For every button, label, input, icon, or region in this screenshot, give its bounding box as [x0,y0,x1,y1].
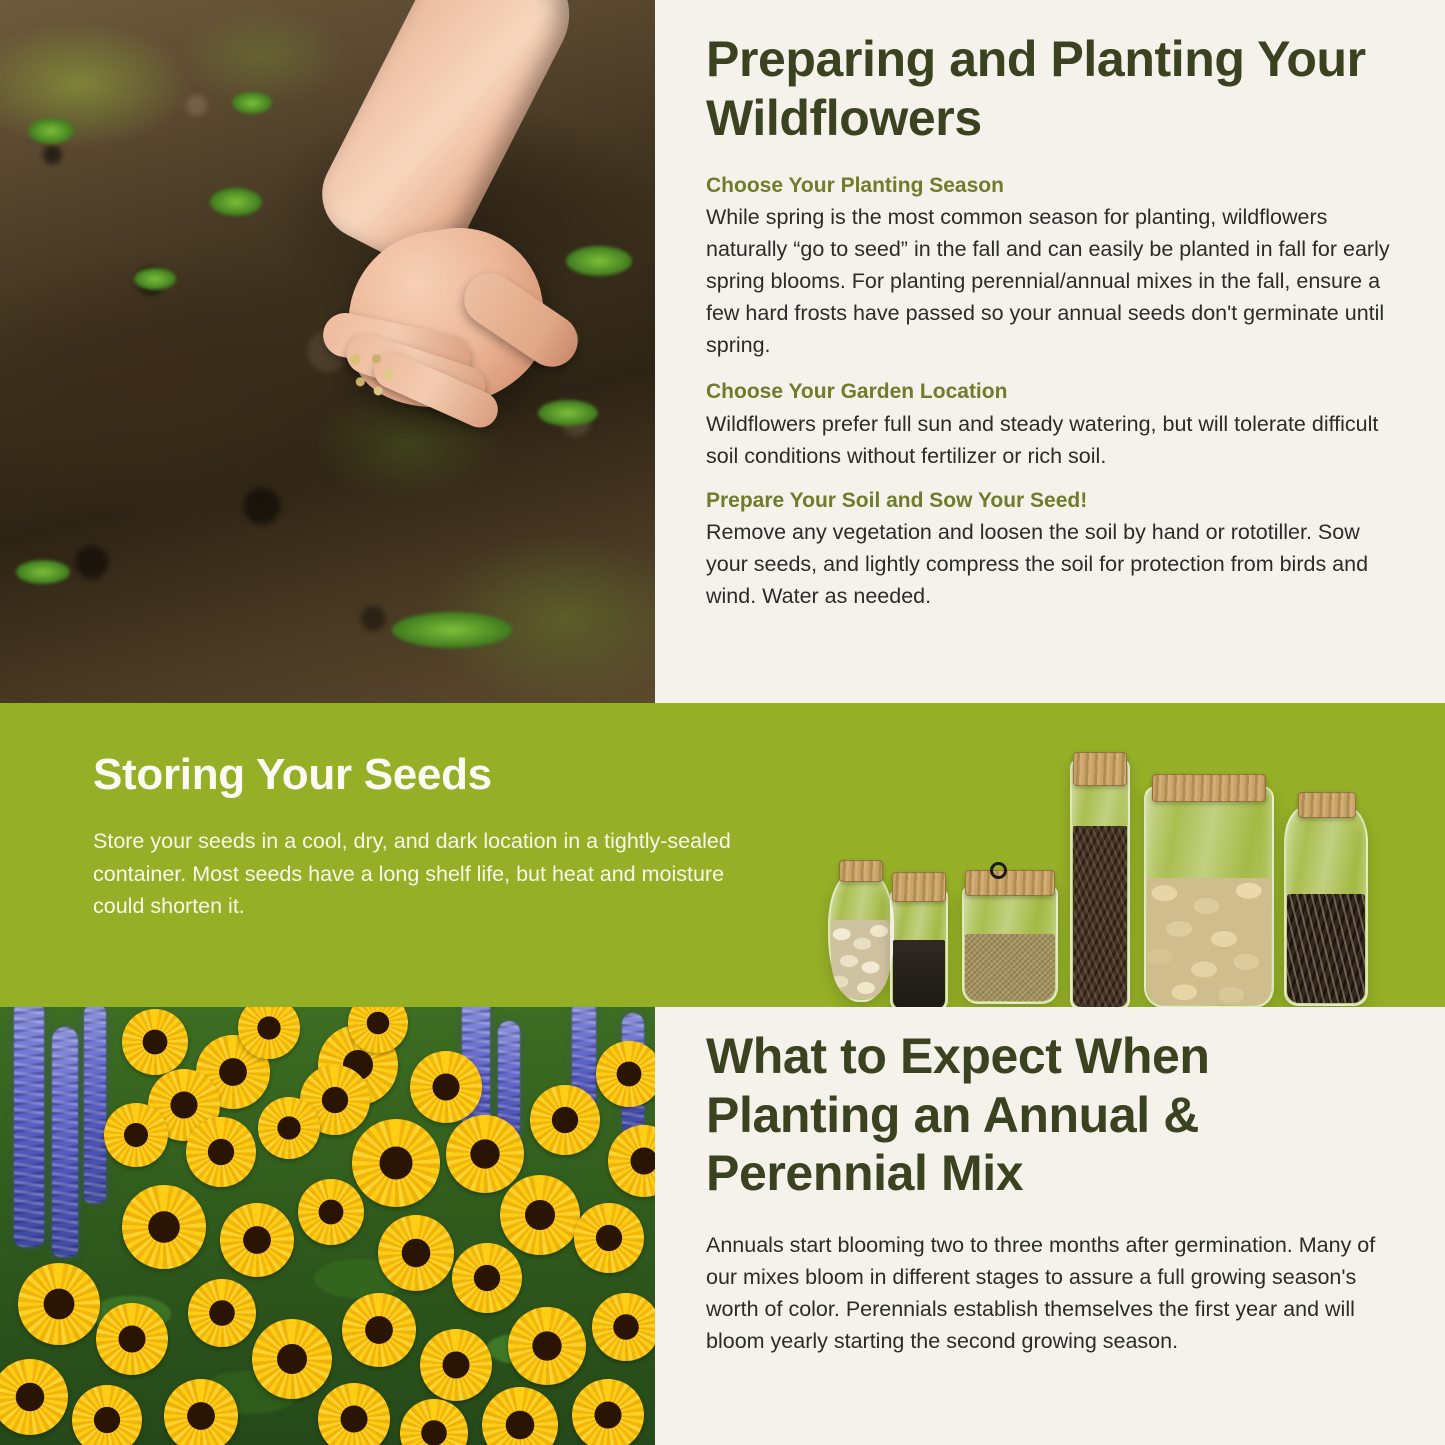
bloom-icon [508,1307,586,1385]
bloom-icon [188,1279,256,1347]
salvia-spike [14,1007,44,1247]
bloom-icon [318,1383,390,1445]
bloom-icon [164,1379,238,1445]
paragraph-garden-location: Wildflowers prefer full sun and steady w… [706,408,1391,472]
salvia-spike [84,1007,106,1203]
sprout-icon [28,118,74,144]
what-to-expect-paragraph: Annuals start blooming two to three mont… [706,1229,1393,1357]
seeds-in-hand-detail [334,340,417,410]
jar-contents [1147,878,1271,1005]
cork-stopper-icon [892,872,946,902]
bloom-icon [410,1051,482,1123]
salvia-spike [52,1027,78,1257]
storing-text-column: Storing Your Seeds Store your seeds in a… [93,751,733,922]
bloom-icon [574,1203,644,1273]
jar-pumpkin-seeds [1144,786,1274,1008]
jar-tall-brown-seed [1070,758,1130,1010]
subheading-prepare-soil: Prepare Your Soil and Sow Your Seed! [706,488,1391,514]
bloom-icon [420,1329,492,1401]
sprout-icon [134,268,176,290]
jar-white-beans [828,874,894,1002]
jar-contents [1287,894,1365,1003]
bloom-icon [18,1263,100,1345]
bloom-icon [220,1203,294,1277]
jar-sunflower-seeds [1284,806,1368,1006]
bloom-icon [252,1319,332,1399]
seed-jars-image [822,722,1382,1012]
cork-stopper-icon [1298,792,1356,818]
storing-paragraph: Store your seeds in a cool, dry, and dar… [93,825,733,922]
cork-stopper-icon [1152,774,1266,802]
bloom-icon [572,1379,644,1445]
bloom-icon [104,1103,168,1167]
what-to-expect-text-column: What to Expect When Planting an Annual &… [655,1007,1445,1445]
bloom-icon [186,1117,256,1187]
cork-stopper-icon [965,870,1055,896]
jar-contents [831,920,891,999]
section-preparing-and-planting: Preparing and Planting Your Wildflowers … [0,0,1445,703]
bloom-icon [342,1293,416,1367]
storing-title: Storing Your Seeds [93,751,733,799]
preparing-text-column: Preparing and Planting Your Wildflowers … [655,0,1445,703]
sprout-icon [392,612,512,648]
hand-graphic [252,0,655,464]
jar-contents [893,940,945,1009]
subheading-planting-season: Choose Your Planting Season [706,173,1391,199]
bloom-icon [446,1115,524,1193]
infographic-page: Preparing and Planting Your Wildflowers … [0,0,1445,1445]
sprout-icon [16,560,70,584]
bloom-icon [378,1215,454,1291]
wire-latch-icon [990,862,1007,879]
bloom-icon [596,1041,655,1107]
what-to-expect-title: What to Expect When Planting an Annual &… [706,1027,1393,1203]
bloom-icon [258,1097,320,1159]
jar-dark-seed [890,890,948,1012]
page-title: Preparing and Planting Your Wildflowers [706,30,1391,147]
wildflower-field-image [0,1007,655,1445]
subheading-garden-location: Choose Your Garden Location [706,379,1391,405]
cork-stopper-icon [839,860,883,882]
bloom-icon [530,1085,600,1155]
paragraph-prepare-soil: Remove any vegetation and loosen the soi… [706,516,1391,612]
bloom-icon [592,1293,655,1361]
section-what-to-expect: What to Expect When Planting an Annual &… [0,1007,1445,1445]
paragraph-planting-season: While spring is the most common season f… [706,201,1391,361]
bloom-icon [122,1009,188,1075]
bloom-icon [122,1185,206,1269]
hand-sowing-seeds-image [0,0,655,703]
bloom-icon [452,1243,522,1313]
bloom-icon [298,1179,364,1245]
bloom-icon [96,1303,168,1375]
bloom-icon [352,1119,440,1207]
jar-contents [1073,826,1127,1007]
bloom-icon [500,1175,580,1255]
jar-contents [965,934,1055,1001]
jar-tan-seed [962,886,1058,1004]
cork-stopper-icon [1073,752,1127,786]
